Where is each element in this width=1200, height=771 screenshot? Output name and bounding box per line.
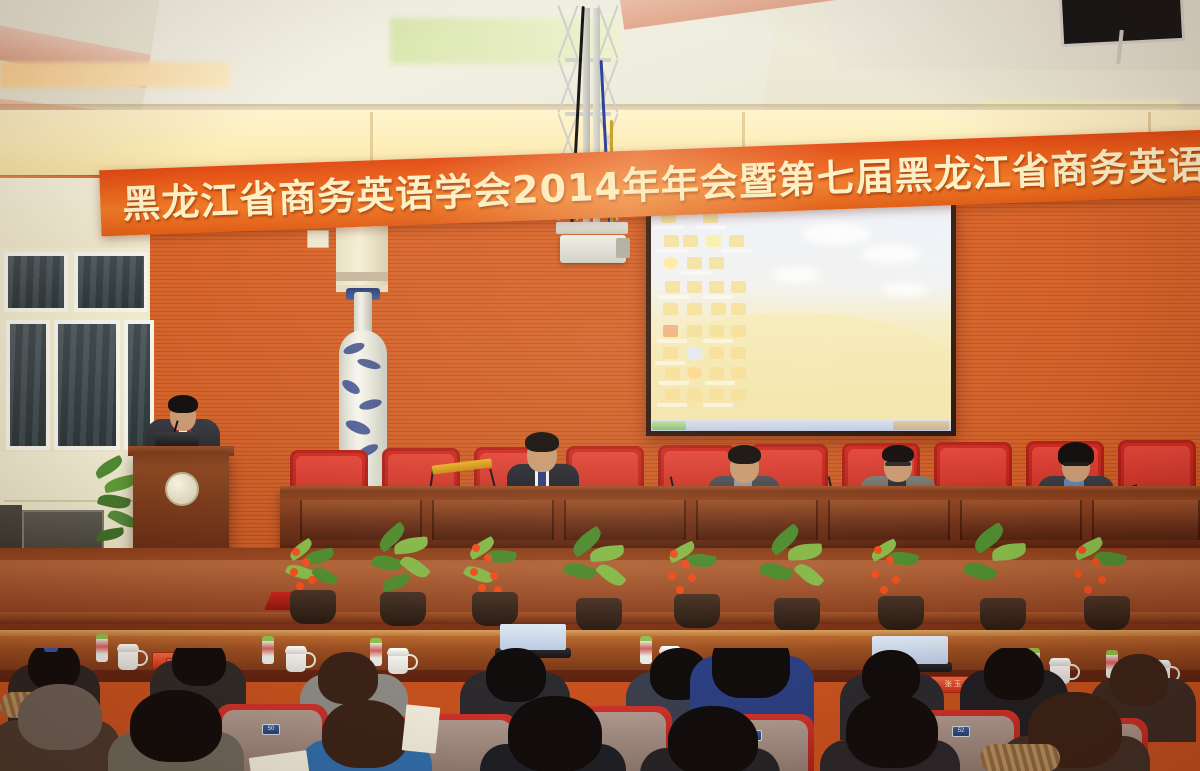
- audience-head: [984, 648, 1044, 700]
- audience-head: [322, 700, 408, 768]
- window-transom: [4, 252, 68, 312]
- podium-laptop: [155, 432, 199, 446]
- stage-flower-row: [282, 524, 1182, 634]
- conference-photo: 黑龙江省商务英语学会2014年年会暨第七届黑龙江省商务英语 严 明 叶兴国: [0, 0, 1200, 771]
- wall-outlet: [307, 230, 329, 248]
- system-tray: [893, 421, 949, 430]
- start-button-icon: [652, 421, 686, 430]
- potted-plant: [958, 530, 1062, 634]
- audience-head: [712, 648, 790, 698]
- audience-head: [1110, 654, 1168, 706]
- audience-head: [508, 696, 602, 771]
- window-transom: [74, 252, 148, 312]
- handout-paper: [402, 704, 441, 753]
- potted-plant: [754, 532, 858, 634]
- audience-head: [130, 690, 222, 762]
- audience-head: [486, 648, 546, 702]
- potted-plant: [366, 530, 466, 634]
- audience: 50 51 52: [0, 648, 1200, 771]
- window: [54, 320, 120, 450]
- column-band: [336, 272, 388, 281]
- window: [6, 320, 50, 450]
- laptop-screen: [500, 624, 566, 650]
- audience-head: [18, 684, 102, 750]
- ceiling-light-glow: [0, 62, 230, 88]
- projection-screen-frame: [646, 200, 956, 436]
- projection-screen: [651, 205, 951, 431]
- seat-number-plaque: 50: [262, 724, 280, 735]
- podium-emblem: [165, 472, 199, 506]
- audience-head: [668, 706, 758, 771]
- audience-head: [318, 652, 378, 704]
- audience-head: [172, 648, 226, 686]
- hair-clip: [44, 648, 58, 652]
- fur-collar: [980, 744, 1060, 771]
- audience-head: [846, 694, 938, 768]
- seat-number-plaque: 52: [952, 726, 970, 737]
- potted-plant: [558, 534, 662, 634]
- projector-mount-plate: [556, 222, 628, 234]
- projector-lens: [616, 238, 630, 258]
